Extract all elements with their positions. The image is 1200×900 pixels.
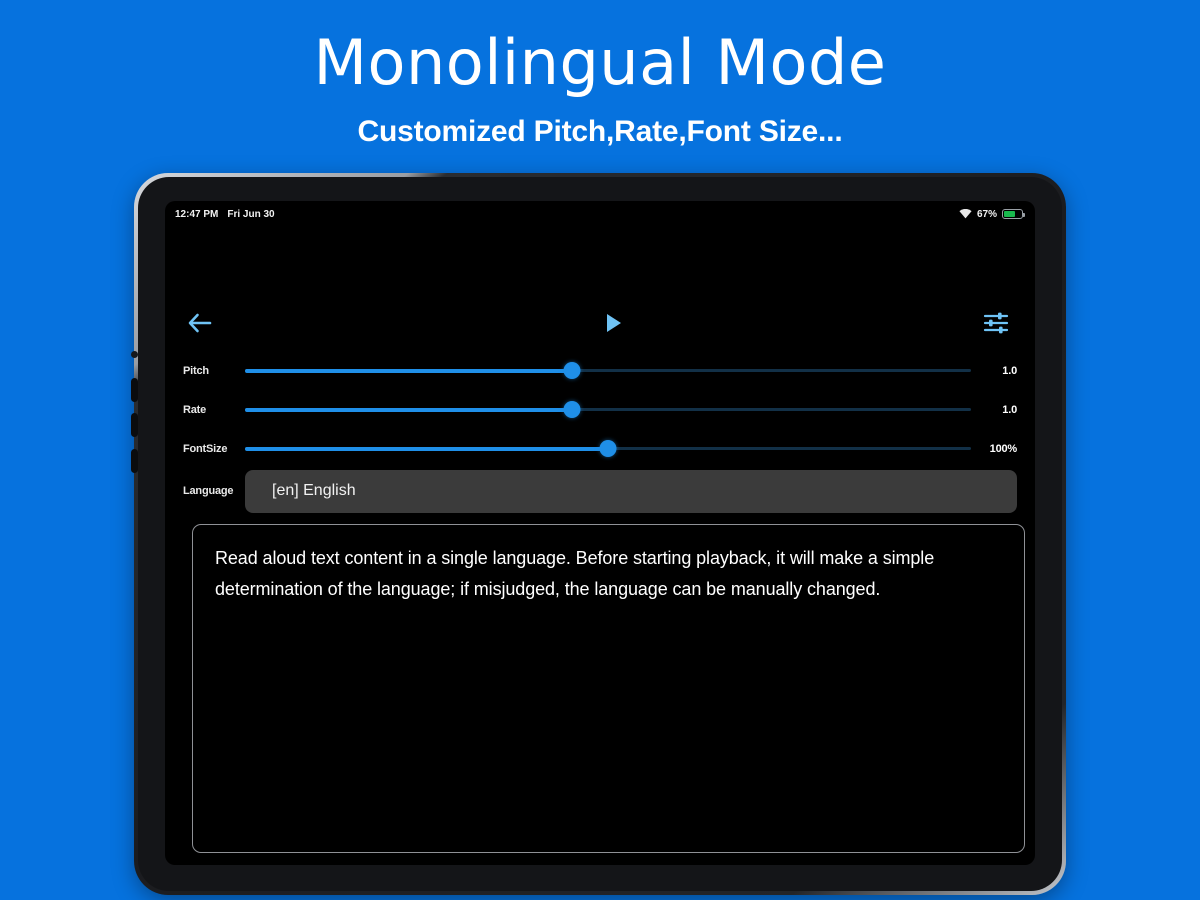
slider-value-pitch: 1.0: [971, 365, 1017, 377]
front-camera-icon: [131, 351, 138, 358]
volume-up-button[interactable]: [131, 378, 138, 402]
tune-sliders-icon: [983, 311, 1009, 335]
status-bar-left: 12:47 PM Fri Jun 30: [175, 209, 275, 220]
slider-pitch[interactable]: [245, 359, 971, 383]
power-button[interactable]: [131, 449, 138, 473]
battery-fill: [1004, 211, 1015, 217]
slider-fontsize[interactable]: [245, 437, 971, 461]
arrow-left-icon: [187, 312, 213, 334]
slider-rate[interactable]: [245, 398, 971, 422]
slider-value-rate: 1.0: [971, 404, 1017, 416]
slider-fill-fontsize: [245, 447, 608, 451]
play-button[interactable]: [597, 306, 631, 340]
device-screen: 12:47 PM Fri Jun 30 67%: [165, 201, 1035, 865]
slider-thumb-rate[interactable]: [563, 401, 580, 418]
back-button[interactable]: [183, 306, 217, 340]
battery-icon: [1002, 209, 1023, 219]
settings-sliders: Pitch 1.0 Rate 1.0: [165, 351, 1035, 468]
slider-thumb-fontsize[interactable]: [600, 440, 617, 457]
status-time: 12:47 PM: [175, 209, 218, 220]
text-content: Read aloud text content in a single lang…: [215, 543, 1002, 605]
slider-row-fontsize: FontSize 100%: [183, 429, 1017, 468]
slider-thumb-pitch[interactable]: [563, 362, 580, 379]
status-bar-right: 67%: [959, 209, 1023, 220]
play-icon: [604, 312, 624, 334]
page-title: Monolingual Mode: [0, 30, 1200, 97]
settings-tune-button[interactable]: [979, 306, 1013, 340]
status-bar: 12:47 PM Fri Jun 30 67%: [165, 201, 1035, 227]
volume-down-button[interactable]: [131, 413, 138, 437]
wifi-icon: [959, 209, 972, 219]
language-label: Language: [183, 485, 245, 497]
slider-value-fontsize: 100%: [971, 443, 1017, 455]
slider-label-rate: Rate: [183, 404, 245, 416]
language-row: Language [en] English: [165, 469, 1035, 513]
slider-fill-pitch: [245, 369, 572, 373]
slider-label-pitch: Pitch: [183, 365, 245, 377]
slider-label-fontsize: FontSize: [183, 443, 245, 455]
tablet-bezel: 12:47 PM Fri Jun 30 67%: [138, 177, 1062, 891]
status-date: Fri Jun 30: [227, 209, 274, 220]
slider-row-rate: Rate 1.0: [183, 390, 1017, 429]
promo-header: Monolingual Mode Customized Pitch,Rate,F…: [0, 0, 1200, 149]
slider-row-pitch: Pitch 1.0: [183, 351, 1017, 390]
page-subtitle: Customized Pitch,Rate,Font Size...: [0, 115, 1200, 149]
tablet-device-frame: 12:47 PM Fri Jun 30 67%: [134, 173, 1066, 895]
player-toolbar: [165, 301, 1035, 345]
text-content-area[interactable]: Read aloud text content in a single lang…: [192, 524, 1025, 853]
slider-fill-rate: [245, 408, 572, 412]
battery-percent-label: 67%: [977, 209, 997, 220]
language-select[interactable]: [en] English: [245, 470, 1017, 513]
